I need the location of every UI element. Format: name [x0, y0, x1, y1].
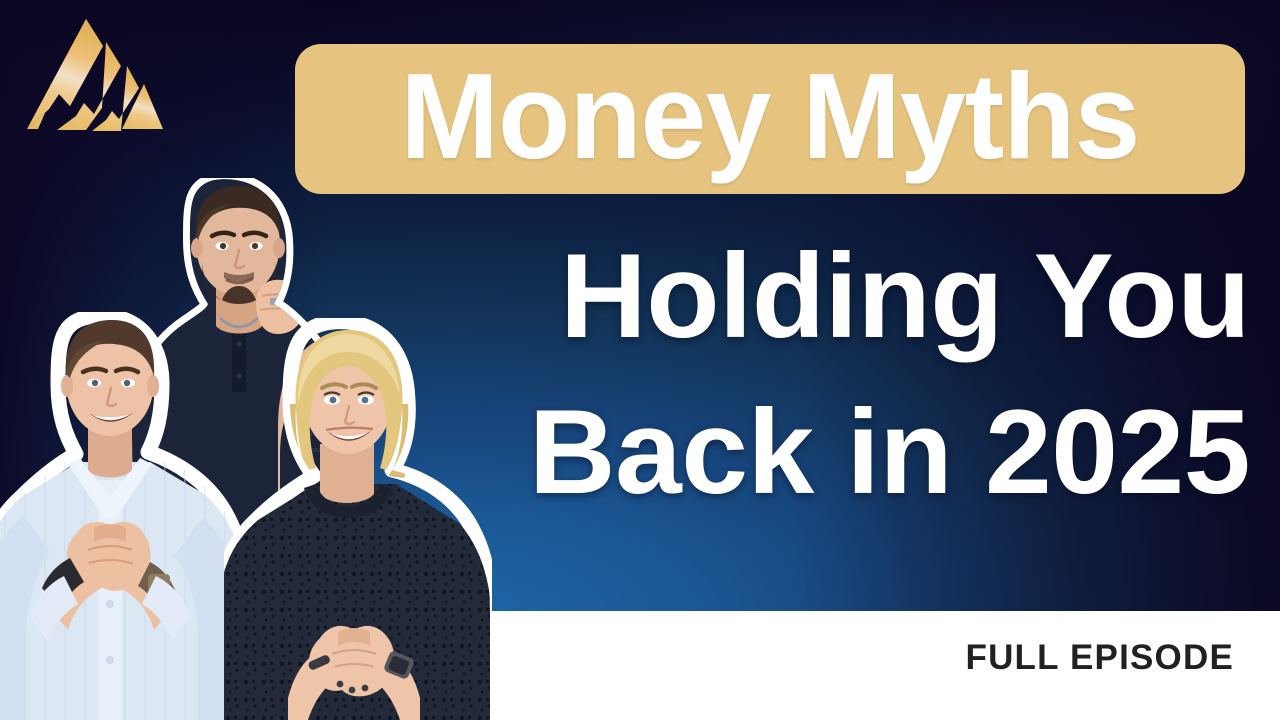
person-right — [224, 318, 492, 720]
people-group: AP — [0, 0, 520, 720]
person-left-image — [0, 312, 250, 720]
thumbnail-canvas: Money Myths Holding You Back in 2025 — [0, 0, 1280, 720]
person-right-image — [224, 318, 492, 720]
person-left — [0, 312, 250, 720]
full-episode-label: FULL EPISODE — [965, 638, 1234, 678]
